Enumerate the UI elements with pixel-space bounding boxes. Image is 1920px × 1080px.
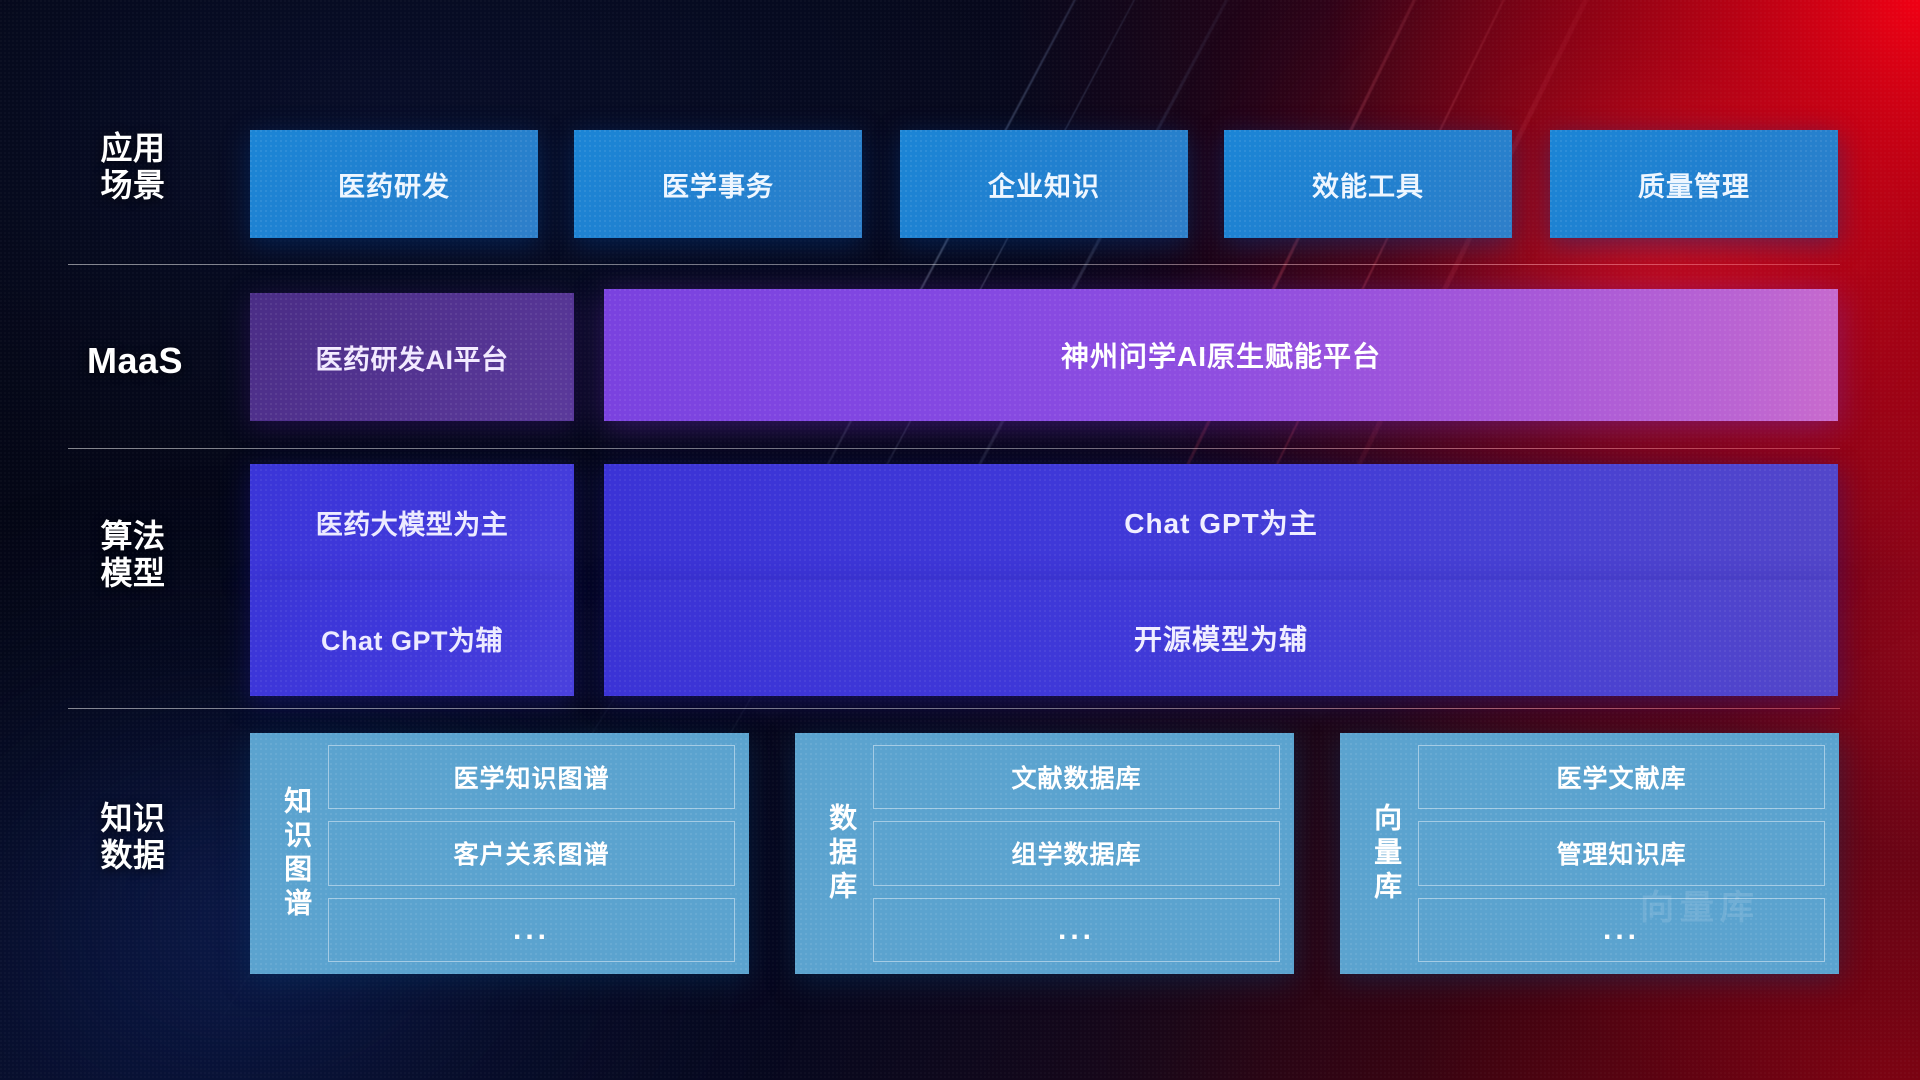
app-box-label: 效能工具 xyxy=(1312,165,1424,204)
maas-box-label: 医药研发AI平台 xyxy=(316,338,509,377)
diagram-content: 应用 场景 医药研发 医学事务 企业知识 效能工具 质量管理 MaaS 医药研发… xyxy=(0,0,1920,1080)
knowledge-item-more[interactable]: ... xyxy=(328,898,735,962)
knowledge-group-items: 文献数据库 组学数据库 ... xyxy=(873,745,1280,962)
knowledge-item[interactable]: 组学数据库 xyxy=(873,821,1280,885)
diagram-canvas: 应用 场景 医药研发 医学事务 企业知识 效能工具 质量管理 MaaS 医药研发… xyxy=(0,0,1920,1080)
maas-box-shenzhou-wenxue-platform[interactable]: 神州问学AI原生赋能平台 xyxy=(604,289,1838,421)
algo-box-label: Chat GPT为辅 xyxy=(321,619,503,658)
algo-box-medical-llm-primary[interactable]: 医药大模型为主 xyxy=(250,464,574,580)
app-box-quality-management[interactable]: 质量管理 xyxy=(1550,130,1838,238)
knowledge-group-items: 医学知识图谱 客户关系图谱 ... xyxy=(328,745,735,962)
algo-box-opensource-secondary[interactable]: 开源模型为辅 xyxy=(604,580,1838,696)
app-box-label: 企业知识 xyxy=(988,165,1100,204)
app-box-medical-affairs[interactable]: 医学事务 xyxy=(574,130,862,238)
knowledge-group-vector-store[interactable]: 向量库 医学文献库 管理知识库 ... xyxy=(1340,733,1839,974)
algo-box-chatgpt-primary[interactable]: Chat GPT为主 xyxy=(604,464,1838,580)
maas-box-drug-rd-ai-platform[interactable]: 医药研发AI平台 xyxy=(250,293,574,421)
knowledge-group-database[interactable]: 数据库 文献数据库 组学数据库 ... xyxy=(795,733,1294,974)
knowledge-item[interactable]: 医学文献库 xyxy=(1418,745,1825,809)
row-label-knowledge: 知识 数据 xyxy=(68,800,198,874)
algo-box-label: 医药大模型为主 xyxy=(316,503,509,542)
row-label-application: 应用 场景 xyxy=(68,130,198,204)
knowledge-group-items: 医学文献库 管理知识库 ... xyxy=(1418,745,1825,962)
row-label-algorithm: 算法 模型 xyxy=(68,518,198,592)
algo-box-label: Chat GPT为主 xyxy=(1124,502,1318,542)
knowledge-item[interactable]: 文献数据库 xyxy=(873,745,1280,809)
knowledge-group-label: 知识图谱 xyxy=(264,745,328,962)
algo-box-label: 开源模型为辅 xyxy=(1134,618,1308,658)
knowledge-group-label: 向量库 xyxy=(1354,745,1418,962)
app-box-efficiency-tools[interactable]: 效能工具 xyxy=(1224,130,1512,238)
divider-algorithm-knowledge xyxy=(68,708,1840,709)
knowledge-item-more[interactable]: ... xyxy=(1418,898,1825,962)
app-box-label: 医药研发 xyxy=(338,165,450,204)
knowledge-item[interactable]: 医学知识图谱 xyxy=(328,745,735,809)
knowledge-item-more[interactable]: ... xyxy=(873,898,1280,962)
maas-box-label: 神州问学AI原生赋能平台 xyxy=(1061,335,1381,375)
algo-box-chatgpt-secondary[interactable]: Chat GPT为辅 xyxy=(250,580,574,696)
knowledge-item[interactable]: 管理知识库 xyxy=(1418,821,1825,885)
divider-application-maas xyxy=(68,264,1840,265)
divider-maas-algorithm xyxy=(68,448,1840,449)
row-label-maas: MaaS xyxy=(60,340,210,382)
knowledge-group-knowledge-graph[interactable]: 知识图谱 医学知识图谱 客户关系图谱 ... xyxy=(250,733,749,974)
app-box-enterprise-knowledge[interactable]: 企业知识 xyxy=(900,130,1188,238)
app-box-drug-rd[interactable]: 医药研发 xyxy=(250,130,538,238)
app-box-label: 质量管理 xyxy=(1638,165,1750,204)
app-box-label: 医学事务 xyxy=(662,165,774,204)
knowledge-item[interactable]: 客户关系图谱 xyxy=(328,821,735,885)
knowledge-group-label: 数据库 xyxy=(809,745,873,962)
